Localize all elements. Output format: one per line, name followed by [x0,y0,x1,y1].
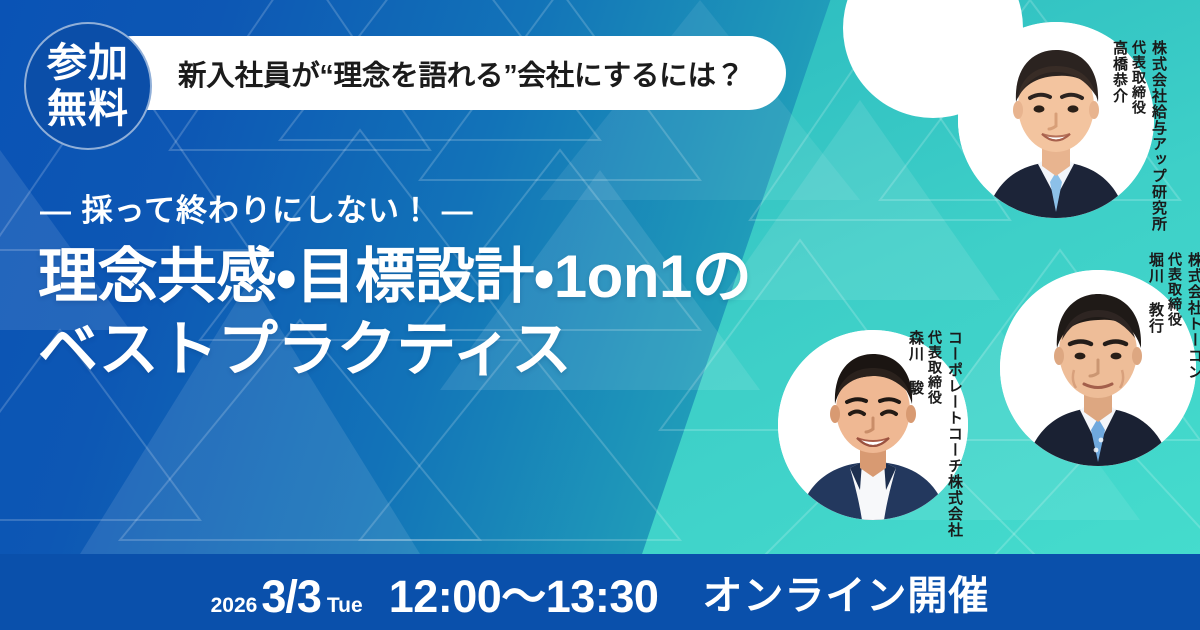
event-year: 2026 [211,594,258,618]
speaker-info-takahashi: 高橋恭介 代表取締役 株式会社給与アップ研究所 [1112,40,1166,232]
event-day-of-week: Tue [327,594,363,618]
free-badge-line1: 参加 [47,43,129,83]
speaker-company-takahashi: 株式会社給与アップ研究所 [1151,40,1166,232]
webinar-banner: 参加 無料 新入社員が“理念を語れる”会社にするには？ — 採って終わりにしない… [0,0,1200,630]
speaker-info-morikawa: 森川 駿 代表取締役 コーポレートコーチ株式会社 [908,330,962,538]
speaker-role-takahashi: 代表取締役 [1132,40,1146,115]
event-date: 2026 3/3 Tue 12:00〜13:30 [211,560,659,625]
speaker-name-morikawa: 森川 駿 [908,330,923,396]
headline-pill-text: 新入社員が“理念を語れる”会社にするには？ [178,53,744,94]
page-title: 理念共感・目標設計・1on1の ベストプラクティス [38,240,751,386]
speaker-company-horikawa: 株式会社トーコン [1187,252,1200,380]
event-month-day: 3/3 [261,571,321,623]
title-line-2: ベストプラクティス [38,313,751,386]
speaker-company-morikawa: コーポレートコーチ株式会社 [947,330,962,538]
free-entry-badge: 参加 無料 [24,22,152,150]
kicker-text: — 採って終わりにしない！ — [40,185,474,230]
event-time: 12:00〜13:30 [389,560,659,625]
speaker-name-takahashi: 高橋恭介 [1112,40,1127,104]
speaker-role-horikawa: 代表取締役 [1168,252,1182,327]
headline-pill: 新入社員が“理念を語れる”会社にするには？ [96,36,786,110]
speaker-info-horikawa: 堀川 教行 代表取締役 株式会社トーコン [1148,252,1200,380]
title-line-1: 理念共感・目標設計・1on1の [38,240,751,313]
free-badge-line2: 無料 [47,89,129,129]
speaker-name-horikawa: 堀川 教行 [1148,252,1163,334]
event-mode: オンライン開催 [702,563,989,621]
footer-bar: 2026 3/3 Tue 12:00〜13:30 オンライン開催 [0,554,1200,630]
speaker-role-morikawa: 代表取締役 [928,330,942,405]
